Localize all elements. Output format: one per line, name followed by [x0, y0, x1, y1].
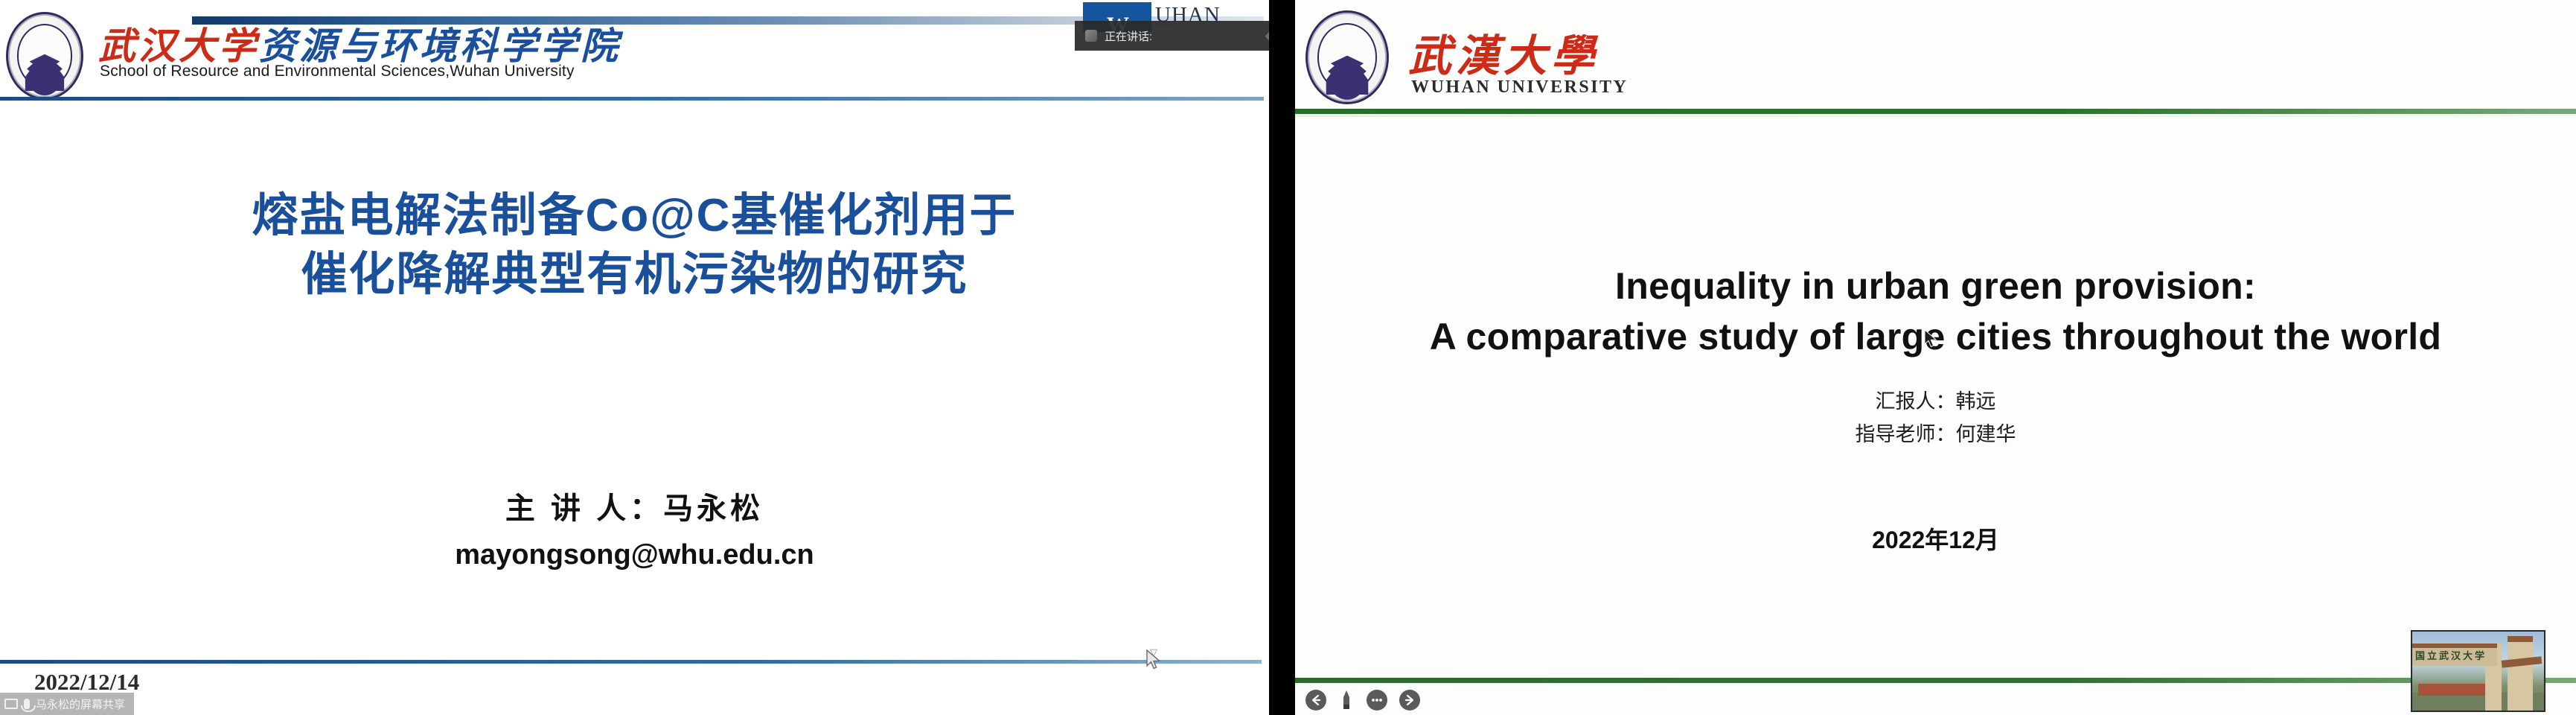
- panel-divider: [1269, 0, 1295, 715]
- left-slide-tiny-mark: ▽: [1150, 646, 1157, 658]
- wuhan-university-seal-icon: [6, 12, 83, 100]
- monitor-icon: [4, 699, 18, 709]
- ellipsis-circle-icon[interactable]: [1367, 690, 1387, 711]
- university-name-en-right: WUHAN UNIVERSITY: [1411, 77, 1628, 98]
- left-title-line-1: 熔盐电解法制备Co@C基催化剂用于: [0, 186, 1269, 245]
- screen-share-label: 马永松的屏幕共享: [36, 696, 125, 712]
- right-presenter-name: 汇报人：韩远: [1295, 386, 2576, 419]
- right-title-line-1: Inequality in urban green provision:: [1325, 261, 2546, 311]
- pen-icon[interactable]: [1338, 690, 1355, 711]
- left-presentation-panel[interactable]: 武汉大学资源与环境科学学院 School of Resource and Env…: [0, 0, 1269, 715]
- right-title-line-2: A comparative study of large cities thro…: [1325, 311, 2546, 362]
- dual-slide-screen-share: 武汉大学资源与环境科学学院 School of Resource and Env…: [0, 0, 2576, 715]
- right-advisor-name: 指导老师：何建华: [1295, 419, 2576, 451]
- right-header-line: [1295, 109, 2576, 114]
- right-presentation-panel[interactable]: 武漢大學 WUHAN UNIVERSITY Inequality in urba…: [1295, 0, 2576, 715]
- right-slide-date: 2022年12月: [1295, 521, 2576, 556]
- screen-share-status-bar[interactable]: 马永松的屏幕共享: [0, 693, 134, 715]
- microphone-icon: [24, 699, 30, 709]
- left-footer-line: [0, 660, 1262, 664]
- speaker-avatar-icon: [1085, 30, 1097, 42]
- university-name-cn: 武汉大学: [98, 25, 259, 67]
- active-speaker-overlay[interactable]: 正在讲话:: [1075, 21, 1269, 51]
- left-presenter-email: mayongsong@whu.edu.cn: [0, 539, 1269, 571]
- left-slide-date: 2022/12/14: [34, 669, 139, 696]
- photo-gate-inscription: 国立武汉大学: [2415, 648, 2487, 662]
- left-slide-header: 武汉大学资源与环境科学学院 School of Resource and Env…: [0, 0, 1269, 112]
- right-footer-line: [1295, 678, 2576, 683]
- left-slide-title: 熔盐电解法制备Co@C基催化剂用于 催化降解典型有机污染物的研究: [0, 186, 1269, 305]
- school-english-name: School of Resource and Environmental Sci…: [100, 63, 575, 80]
- photo-archway-right: [2508, 636, 2533, 712]
- speaker-volume-icon: [1259, 30, 1269, 42]
- arrow-right-circle-icon[interactable]: [1399, 690, 1420, 711]
- right-header-line-highlight: [1295, 114, 2576, 117]
- seal-ring: [1308, 13, 1387, 102]
- left-presenter-name: 主 讲 人：马永松: [0, 484, 1269, 527]
- seal-ring: [8, 14, 81, 98]
- active-speaker-label: 正在讲话:: [1105, 28, 1152, 44]
- right-slide-meta: 汇报人：韩远 指导老师：何建华: [1295, 386, 2576, 451]
- presentation-controls[interactable]: [1305, 690, 1420, 711]
- photo-inner-roof: [2418, 684, 2487, 696]
- school-name-cn: 资源与环境科学学院: [259, 25, 621, 67]
- right-slide-title: Inequality in urban green provision: A c…: [1325, 261, 2546, 362]
- university-name-cn-right: 武漢大學: [1408, 21, 1599, 83]
- campus-gate-photo: 国立武汉大学: [2411, 630, 2545, 712]
- left-title-line-2: 催化降解典型有机污染物的研究: [0, 245, 1269, 304]
- header-underline: [0, 97, 1264, 101]
- arrow-left-circle-icon[interactable]: [1305, 690, 1326, 711]
- wuhan-university-seal-icon-right: [1305, 10, 1389, 104]
